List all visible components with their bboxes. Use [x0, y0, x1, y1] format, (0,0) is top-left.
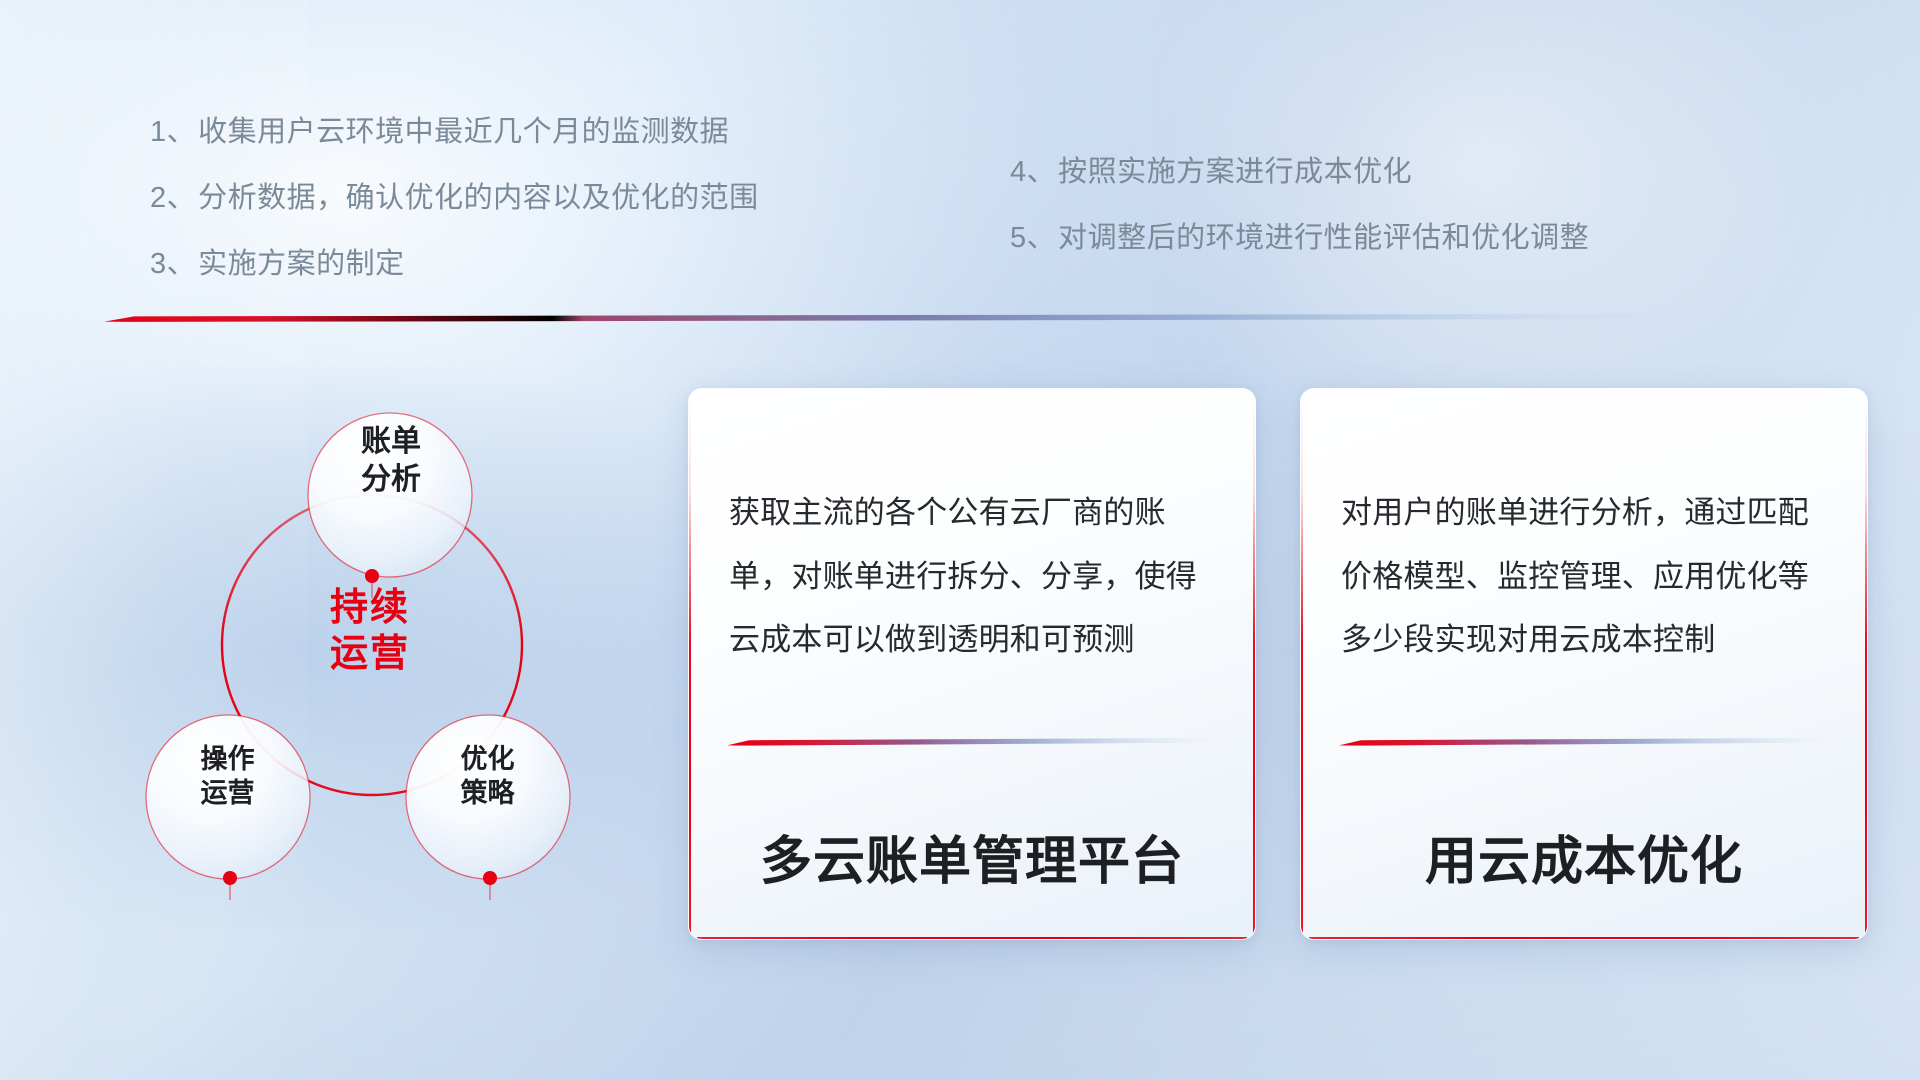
card-description: 对用户的账单进行分析，通过匹配价格模型、监控管理、应用优化等多少段实现对用云成本…	[1341, 481, 1833, 672]
step-item: 1、 收集用户云环境中最近几个月的监测数据	[150, 118, 759, 147]
card-description: 获取主流的各个公有云厂商的账单，对账单进行拆分、分享，使得云成本可以做到透明和可…	[729, 481, 1221, 672]
step-number: 3、	[150, 250, 196, 279]
bubble-label-top: 账单 分析	[301, 423, 481, 498]
step-item: 5、 对调整后的环境进行性能评估和优化调整	[1010, 224, 1589, 253]
step-number: 1、	[150, 118, 196, 147]
node-left	[223, 871, 237, 885]
step-text: 按照实施方案进行成本优化	[1058, 158, 1412, 187]
card-accent-rule	[727, 737, 1227, 746]
card-accent-rule	[1339, 737, 1839, 746]
step-text: 实施方案的制定	[198, 250, 405, 279]
step-item: 3、 实施方案的制定	[150, 250, 759, 279]
step-text: 收集用户云环境中最近几个月的监测数据	[198, 118, 729, 147]
center-label-line2: 运营	[330, 633, 410, 675]
bubble-label-right: 优化 策略	[400, 743, 575, 811]
card-bottom-accent	[697, 937, 1247, 939]
step-number: 4、	[1010, 158, 1056, 187]
steps-list-right: 4、 按照实施方案进行成本优化 5、 对调整后的环境进行性能评估和优化调整	[1010, 158, 1589, 290]
step-item: 2、 分析数据，确认优化的内容以及优化的范围	[150, 184, 759, 213]
feature-card-cloud-cost-optimization[interactable]: 对用户的账单进行分析，通过匹配价格模型、监控管理、应用优化等多少段实现对用云成本…	[1300, 388, 1868, 940]
diagram-center-label: 持续 运营	[275, 585, 465, 678]
section-divider	[104, 313, 1704, 322]
feature-card-multicloud-billing[interactable]: 获取主流的各个公有云厂商的账单，对账单进行拆分、分享，使得云成本可以做到透明和可…	[688, 388, 1256, 940]
card-title: 多云账单管理平台	[689, 819, 1255, 894]
continuous-operations-diagram: 账单 分析 操作 运营 优化 策略 持续 运营	[95, 345, 640, 955]
card-title: 用云成本优化	[1301, 819, 1867, 894]
step-number: 5、	[1010, 224, 1056, 253]
bubble-label-top-line2: 分析	[361, 463, 421, 496]
bubble-label-left: 操作 运营	[140, 743, 315, 811]
step-text: 分析数据，确认优化的内容以及优化的范围	[198, 184, 759, 213]
step-text: 对调整后的环境进行性能评估和优化调整	[1058, 224, 1589, 253]
card-bottom-accent	[1309, 937, 1859, 939]
step-item: 4、 按照实施方案进行成本优化	[1010, 158, 1589, 187]
bubble-label-left-line1: 操作	[201, 744, 255, 774]
bubble-label-left-line2: 运营	[201, 778, 255, 808]
bubble-label-right-line2: 策略	[461, 778, 515, 808]
steps-list-left: 1、 收集用户云环境中最近几个月的监测数据 2、 分析数据，确认优化的内容以及优…	[150, 118, 759, 316]
center-label-line1: 持续	[330, 587, 410, 629]
node-top	[365, 569, 379, 583]
node-right	[483, 871, 497, 885]
bubble-label-top-line1: 账单	[361, 425, 421, 458]
step-number: 2、	[150, 184, 196, 213]
bubble-label-right-line1: 优化	[461, 744, 515, 774]
